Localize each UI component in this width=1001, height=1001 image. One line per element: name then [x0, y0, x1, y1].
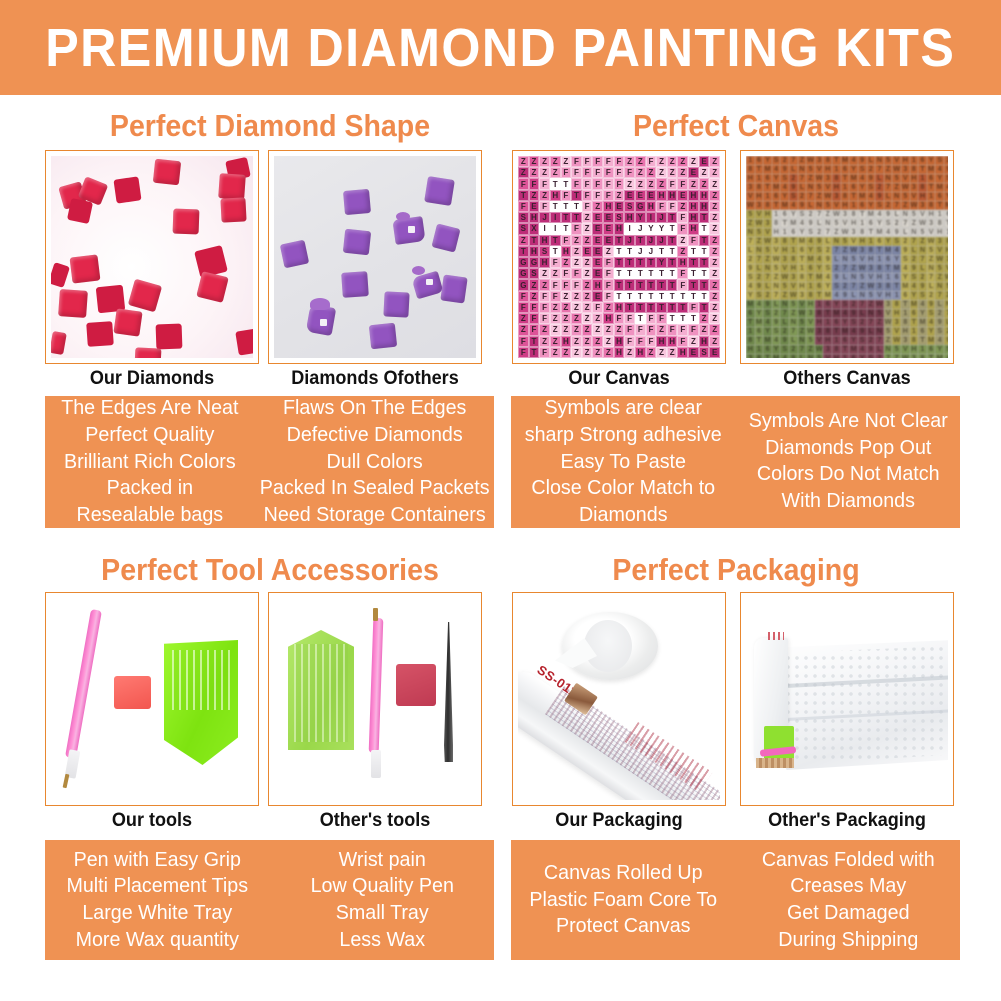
canvas-symbol-cell: H — [901, 327, 910, 336]
canvas-symbol-cell: 9 — [763, 300, 772, 309]
canvas-symbol-cell: 3 — [841, 210, 850, 219]
canvas-symbol-cell: F — [539, 178, 550, 189]
canvas-symbol-cell: 6 — [884, 255, 893, 264]
canvas-symbol-cell: M — [935, 354, 944, 358]
canvas-symbol-cell: 1 — [823, 318, 832, 327]
canvas-symbol-cell: V — [755, 210, 764, 219]
photo-others-tools — [268, 592, 482, 806]
canvas-symbol-cell: T — [667, 246, 678, 257]
canvas-symbol-cell: 8 — [832, 174, 841, 183]
canvas-symbol-cell: 1 — [884, 273, 893, 282]
canvas-symbol-cell: 6 — [763, 345, 772, 354]
canvas-symbol-cell: V — [746, 192, 755, 201]
canvas-symbol-cell: Z — [518, 167, 529, 178]
canvas-symbol-cell: H — [832, 354, 841, 358]
canvas-symbol-cell: Y — [815, 264, 824, 273]
canvas-symbol-cell: 2 — [927, 291, 936, 300]
benefit-line: Large White Tray — [82, 900, 232, 927]
canvas-symbol-cell: 9 — [780, 336, 789, 345]
canvas-symbol-cell: 2 — [901, 237, 910, 246]
canvas-symbol-cell: N — [798, 165, 807, 174]
canvas-symbol-cell: 6 — [918, 156, 927, 165]
canvas-symbol-cell: 4 — [944, 183, 948, 192]
canvas-symbol-cell: M — [901, 282, 910, 291]
canvas-symbol-cell: V — [944, 264, 948, 273]
canvas-symbol-cell: T — [798, 255, 807, 264]
canvas-symbol-cell: Y — [646, 223, 657, 234]
canvas-symbol-cell: W — [832, 210, 841, 219]
canvas-symbol-cell: I — [550, 223, 561, 234]
canvas-symbol-cell: H — [892, 309, 901, 318]
canvas-symbol-cell: F — [614, 156, 625, 167]
canvas-symbol-cell: 6 — [815, 282, 824, 291]
canvas-symbol-cell: J — [656, 212, 667, 223]
canvas-symbol-cell: F — [529, 324, 540, 335]
canvas-symbol-cell: Z — [603, 302, 614, 313]
canvas-symbol-cell: 3 — [815, 156, 824, 165]
canvas-symbol-cell: Z — [709, 324, 720, 335]
canvas-symbol-cell: Z — [539, 336, 550, 347]
canvas-symbol-cell: H — [699, 190, 710, 201]
canvas-symbol-cell: Z — [709, 257, 720, 268]
canvas-symbol-cell: 7 — [944, 309, 948, 318]
canvas-symbol-cell: E — [646, 190, 657, 201]
canvas-symbol-cell: F — [571, 279, 582, 290]
canvas-symbol-cell: H — [561, 246, 572, 257]
canvas-symbol-cell: 3 — [763, 219, 772, 228]
canvas-symbol-cell: 6 — [763, 174, 772, 183]
canvas-symbol-cell: F — [550, 257, 561, 268]
canvas-symbol-cell: T — [935, 201, 944, 210]
canvas-symbol-cell: T — [858, 210, 867, 219]
canvas-symbol-cell: 1 — [772, 210, 781, 219]
canvas-symbol-cell: 4 — [755, 300, 764, 309]
section-title-canvas: Perfect Canvas — [529, 108, 943, 144]
canvas-symbol-cell: M — [927, 336, 936, 345]
canvas-symbol-cell: 7 — [789, 156, 798, 165]
canvas-symbol-cell: F — [667, 201, 678, 212]
canvas-symbol-cell: Z — [709, 246, 720, 257]
canvas-symbol-cell: 6 — [780, 210, 789, 219]
canvas-symbol-cell: V — [815, 165, 824, 174]
canvas-symbol-cell: T — [635, 313, 646, 324]
benefit-line: Resealable bags — [77, 502, 224, 529]
benefit-line: Canvas Rolled Up — [544, 860, 703, 887]
canvas-symbol-cell: S — [539, 246, 550, 257]
canvas-symbol-cell: T — [688, 246, 699, 257]
canvas-symbol-cell: 2 — [789, 345, 798, 354]
canvas-symbol-cell: 6 — [892, 273, 901, 282]
canvas-symbol-cell: E — [614, 201, 625, 212]
canvas-symbol-cell: S — [518, 223, 529, 234]
canvas-symbol-cell: N — [849, 273, 858, 282]
canvas-symbol-cell: 7 — [772, 291, 781, 300]
canvas-symbol-cell: F — [677, 336, 688, 347]
canvas-symbol-cell: S — [892, 237, 901, 246]
canvas-symbol-cell: N — [927, 264, 936, 273]
canvas-symbol-cell: L — [832, 255, 841, 264]
canvas-symbol-cell: Y — [635, 212, 646, 223]
points-others-packaging: Canvas Folded withCreases MayGet Damaged… — [740, 846, 956, 954]
canvas-symbol-cell: F — [603, 257, 614, 268]
canvas-symbol-cell: Z — [550, 324, 561, 335]
canvas-symbol-cell: T — [561, 178, 572, 189]
canvas-symbol-cell: T — [918, 336, 927, 345]
caption-our-tools: Our tools — [50, 810, 253, 832]
benefit-line: Defective Diamonds — [286, 422, 462, 449]
canvas-symbol-cell: Z — [677, 246, 688, 257]
canvas-symbol-cell: T — [944, 219, 948, 228]
canvas-symbol-cell: E — [592, 268, 603, 279]
canvas-symbol-cell: 3 — [780, 255, 789, 264]
canvas-symbol-cell: 1 — [841, 183, 850, 192]
canvas-symbol-cell: L — [875, 345, 884, 354]
canvas-symbol-cell: 4 — [798, 219, 807, 228]
canvas-symbol-cell: 4 — [815, 255, 824, 264]
canvas-symbol-cell: T — [927, 183, 936, 192]
canvas-symbol-cell: H — [699, 201, 710, 212]
canvas-symbol-cell: Z — [582, 279, 593, 290]
canvas-symbol-cell: L — [823, 237, 832, 246]
canvas-symbol-cell: 4 — [841, 309, 850, 318]
canvas-symbol-cell: 1 — [746, 156, 755, 165]
canvas-symbol-cell: 5 — [806, 336, 815, 345]
canvas-symbol-cell: 3 — [815, 327, 824, 336]
canvas-symbol-cell: 8 — [823, 156, 832, 165]
canvas-symbol-cell: Z — [582, 313, 593, 324]
canvas-symbol-cell: 5 — [841, 237, 850, 246]
canvas-symbol-cell: H — [841, 201, 850, 210]
canvas-symbol-cell: M — [849, 345, 858, 354]
canvas-symbol-cell: Z — [677, 201, 688, 212]
canvas-symbol-cell: 5 — [910, 210, 919, 219]
points-our-tools: Pen with Easy GripMulti Placement TipsLa… — [49, 846, 265, 954]
canvas-symbol-cell: T — [550, 246, 561, 257]
canvas-symbol-cell: Z — [571, 302, 582, 313]
canvas-symbol-cell: N — [780, 300, 789, 309]
canvas-symbol-cell: F — [677, 223, 688, 234]
canvas-symbol-cell: 3 — [858, 246, 867, 255]
benefit-line: Brilliant Rich Colors — [64, 449, 236, 476]
canvas-symbol-cell: S — [614, 212, 625, 223]
canvas-symbol-cell: 4 — [918, 300, 927, 309]
canvas-symbol-cell: F — [529, 178, 540, 189]
canvas-symbol-cell: H — [603, 201, 614, 212]
canvas-symbol-cell: H — [746, 174, 755, 183]
canvas-symbol-cell: 8 — [918, 354, 927, 358]
canvas-symbol-cell: Z — [699, 313, 710, 324]
canvas-symbol-cell: T — [667, 313, 678, 324]
canvas-symbol-cell: 3 — [927, 219, 936, 228]
canvas-symbol-cell: Z — [709, 156, 720, 167]
canvas-symbol-cell: W — [746, 201, 755, 210]
canvas-symbol-cell: 3 — [806, 309, 815, 318]
canvas-symbol-cell: T — [614, 246, 625, 257]
canvas-symbol-cell: L — [867, 327, 876, 336]
canvas-symbol-cell: T — [910, 318, 919, 327]
canvas-symbol-cell: 4 — [892, 246, 901, 255]
canvas-symbol-cell: T — [561, 201, 572, 212]
canvas-symbol-cell: 8 — [763, 201, 772, 210]
canvas-symbol-cell: W — [867, 282, 876, 291]
canvas-symbol-cell: F — [688, 324, 699, 335]
canvas-symbol-cell: 4 — [884, 228, 893, 237]
canvas-symbol-cell: 8 — [910, 165, 919, 174]
canvas-symbol-cell: 1 — [832, 336, 841, 345]
canvas-symbol-cell: Z — [841, 246, 850, 255]
canvas-symbol-cell: S — [849, 318, 858, 327]
canvas-symbol-cell: Z — [571, 324, 582, 335]
canvas-symbol-cell: Y — [910, 291, 919, 300]
canvas-symbol-cell: Z — [667, 156, 678, 167]
canvas-symbol-cell: 8 — [823, 327, 832, 336]
canvas-symbol-cell: W — [927, 237, 936, 246]
canvas-symbol-cell: Z — [518, 235, 529, 246]
canvas-symbol-cell: 7 — [798, 174, 807, 183]
canvas-symbol-cell: 1 — [849, 201, 858, 210]
canvas-symbol-cell: 8 — [806, 291, 815, 300]
benefit-line: Symbols are clear — [545, 395, 703, 422]
canvas-symbol-cell: N — [858, 291, 867, 300]
canvas-symbol-cell: T — [635, 235, 646, 246]
canvas-symbol-cell: F — [614, 178, 625, 189]
pen-tip — [371, 750, 381, 778]
canvas-symbol-cell: L — [789, 336, 798, 345]
canvas-symbol-cell: 5 — [823, 201, 832, 210]
canvas-symbol-cell: V — [772, 246, 781, 255]
canvas-symbol-cell: 5 — [832, 219, 841, 228]
canvas-symbol-cell: 3 — [944, 255, 948, 264]
canvas-symbol-cell: Z — [571, 291, 582, 302]
canvas-symbol-cell: T — [656, 268, 667, 279]
caption-others-tools: Other's tools — [273, 810, 476, 832]
canvas-symbol-cell: 9 — [910, 264, 919, 273]
canvas-symbol-cell: 1 — [755, 174, 764, 183]
canvas-symbol-cell: M — [772, 183, 781, 192]
canvas-symbol-cell: Z — [884, 165, 893, 174]
canvas-symbol-cell: M — [763, 336, 772, 345]
canvas-symbol-cell: Z — [763, 255, 772, 264]
canvas-symbol-cell: L — [910, 246, 919, 255]
canvas-symbol-cell: H — [832, 183, 841, 192]
canvas-symbol-cell: 7 — [875, 165, 884, 174]
canvas-symbol-cell: Z — [529, 190, 540, 201]
canvas-symbol-cell: 8 — [918, 183, 927, 192]
canvas-symbol-cell: T — [699, 302, 710, 313]
canvas-symbol-cell: Z — [539, 156, 550, 167]
canvas-symbol-cell: M — [910, 300, 919, 309]
canvas-symbol-cell: F — [539, 302, 550, 313]
canvas-symbol-cell: 1 — [927, 192, 936, 201]
canvas-symbol-cell: Z — [571, 313, 582, 324]
canvas-symbol-cell: Z — [561, 156, 572, 167]
canvas-symbol-cell: T — [699, 268, 710, 279]
canvas-symbol-cell: Z — [582, 324, 593, 335]
benefit-line: During Shipping — [778, 927, 918, 954]
canvas-symbol-cell: V — [815, 336, 824, 345]
canvas-symbol-cell: 2 — [858, 318, 867, 327]
canvas-symbol-cell: H — [635, 347, 646, 358]
canvas-symbol-cell: T — [892, 282, 901, 291]
canvas-symbol-cell: N — [910, 228, 919, 237]
canvas-symbol-cell: F — [603, 291, 614, 302]
canvas-symbol-cell: T — [550, 178, 561, 189]
canvas-symbol-cell: 3 — [910, 354, 919, 358]
canvas-symbol-cell: 7 — [789, 327, 798, 336]
canvas-symbol-cell: V — [884, 309, 893, 318]
canvas-symbol-cell: S — [910, 273, 919, 282]
canvas-symbol-cell: H — [614, 347, 625, 358]
canvas-symbol-cell: T — [667, 291, 678, 302]
canvas-symbol-cell: 9 — [823, 255, 832, 264]
canvas-symbol-cell: H — [849, 219, 858, 228]
canvas-symbol-cell: F — [635, 324, 646, 335]
canvas-symbol-cell: H — [614, 302, 625, 313]
canvas-symbol-cell: 9 — [867, 345, 876, 354]
canvas-symbol-cell: 1 — [780, 228, 789, 237]
canvas-symbol-cell: W — [944, 273, 948, 282]
canvas-symbol-cell: F — [571, 268, 582, 279]
wax-square — [396, 664, 436, 706]
canvas-symbol-cell: 1 — [918, 345, 927, 354]
canvas-symbol-cell: S — [841, 300, 850, 309]
canvas-symbol-cell: T — [677, 302, 688, 313]
canvas-symbol-cell: I — [550, 212, 561, 223]
canvas-symbol-cell: H — [656, 336, 667, 347]
canvas-symbol-cell: T — [789, 237, 798, 246]
canvas-symbol-cell: S — [927, 309, 936, 318]
canvas-symbol-cell: G — [635, 201, 646, 212]
canvas-symbol-cell: Z — [550, 156, 561, 167]
canvas-symbol-cell: T — [688, 257, 699, 268]
canvas-symbol-cell: W — [789, 291, 798, 300]
points-our-diamonds: The Edges Are NeatPerfect QualityBrillia… — [49, 402, 250, 522]
canvas-symbol-cell: 7 — [935, 291, 944, 300]
canvas-symbol-cell: M — [892, 264, 901, 273]
canvas-symbol-cell: J — [646, 235, 657, 246]
canvas-symbol-cell: J — [539, 212, 550, 223]
canvas-symbol-cell: F — [677, 212, 688, 223]
canvas-symbol-cell: M — [746, 300, 755, 309]
canvas-symbol-cell: H — [755, 192, 764, 201]
canvas-symbol-cell: 3 — [884, 300, 893, 309]
canvas-symbol-cell: S — [763, 309, 772, 318]
canvas-symbol-cell: Y — [763, 156, 772, 165]
canvas-symbol-cell: Y — [823, 282, 832, 291]
canvas-symbol-cell: Z — [709, 336, 720, 347]
canvas-symbol-cell: 6 — [849, 354, 858, 358]
benefit-line: Canvas Folded with — [761, 847, 934, 874]
canvas-symbol-cell: 5 — [849, 255, 858, 264]
section-title-tools: Perfect Tool Accessories — [63, 552, 477, 588]
canvas-symbol-cell: T — [927, 354, 936, 358]
canvas-symbol-cell: F — [688, 235, 699, 246]
photo-others-canvas: 16YS27ZW38TM49LN5VH16YS28TM49LN5VH16YS27… — [740, 150, 954, 364]
canvas-symbol-cell: T — [614, 235, 625, 246]
canvas-symbol-cell: 2 — [755, 273, 764, 282]
canvas-symbol-cell: Z — [746, 219, 755, 228]
canvas-symbol-cell: 2 — [910, 255, 919, 264]
canvas-symbol-cell: F — [592, 190, 603, 201]
canvas-symbol-cell: H — [875, 273, 884, 282]
canvas-symbol-cell: F — [603, 167, 614, 178]
canvas-symbol-cell: Z — [918, 237, 927, 246]
canvas-symbol-cell: F — [582, 156, 593, 167]
canvas-symbol-cell: Y — [763, 327, 772, 336]
canvas-symbol-cell: Y — [746, 291, 755, 300]
canvas-symbol-cell: F — [582, 201, 593, 212]
caption-others-packaging: Other's Packaging — [745, 810, 948, 832]
benefit-line: Small Tray — [335, 900, 428, 927]
canvas-symbol-cell: H — [823, 336, 832, 345]
canvas-symbol-cell: F — [571, 178, 582, 189]
canvas-symbol-cell: Z — [571, 347, 582, 358]
canvas-symbol-cell: 5 — [763, 246, 772, 255]
caption-our-canvas: Our Canvas — [517, 368, 720, 390]
canvas-symbol-cell: H — [539, 235, 550, 246]
canvas-symbol-cell: F — [571, 223, 582, 234]
canvas-symbol-cell: Z — [656, 167, 667, 178]
canvas-symbol-cell: V — [918, 210, 927, 219]
canvas-symbol-cell: W — [806, 327, 815, 336]
canvas-symbol-cell: N — [763, 264, 772, 273]
canvas-symbol-cell: Z — [667, 347, 678, 358]
canvas-symbol-cell: Y — [832, 300, 841, 309]
canvas-symbol-cell: F — [635, 336, 646, 347]
canvas-symbol-cell: V — [780, 264, 789, 273]
canvas-symbol-cell: 3 — [901, 165, 910, 174]
canvas-symbol-cell: J — [646, 246, 657, 257]
canvas-symbol-cell: S — [875, 201, 884, 210]
canvas-symbol-cell: 6 — [901, 291, 910, 300]
canvas-symbol-cell: Z — [582, 268, 593, 279]
canvas-symbol-cell: F — [646, 336, 657, 347]
caption-our-diamonds: Our Diamonds — [50, 368, 253, 390]
canvas-symbol-cell: 9 — [780, 165, 789, 174]
canvas-symbol-cell: 6 — [772, 192, 781, 201]
canvas-symbol-cell: 3 — [772, 237, 781, 246]
canvas-symbol-cell: 7 — [746, 237, 755, 246]
blurry-symbol-grid: 16YS27ZW38TM49LN5VH16YS28TM49LN5VH16YS27… — [746, 156, 948, 358]
canvas-symbol-cell: 6 — [789, 228, 798, 237]
canvas-symbol-cell: 9 — [927, 300, 936, 309]
canvas-symbol-cell: 6 — [755, 156, 764, 165]
canvas-symbol-cell: 3 — [875, 282, 884, 291]
benefit-line: Close Color Match to — [531, 475, 715, 502]
canvas-symbol-cell: T — [529, 336, 540, 347]
canvas-symbol-cell: L — [789, 165, 798, 174]
canvas-symbol-cell: Y — [772, 174, 781, 183]
canvas-symbol-cell: M — [935, 183, 944, 192]
benefit-line: Creases May — [790, 873, 906, 900]
canvas-symbol-cell: F — [518, 336, 529, 347]
canvas-symbol-cell: N — [918, 246, 927, 255]
canvas-symbol-cell: 2 — [780, 327, 789, 336]
canvas-symbol-cell: F — [539, 313, 550, 324]
canvas-symbol-cell: V — [832, 201, 841, 210]
canvas-symbol-cell: E — [592, 257, 603, 268]
canvas-symbol-cell: E — [603, 212, 614, 223]
canvas-symbol-cell: Z — [677, 156, 688, 167]
canvas-symbol-cell: T — [518, 190, 529, 201]
canvas-symbol-cell: V — [823, 183, 832, 192]
canvas-symbol-cell: M — [884, 246, 893, 255]
canvas-symbol-cell: L — [901, 228, 910, 237]
canvas-symbol-cell: Z — [561, 302, 572, 313]
canvas-symbol-cell: N — [884, 174, 893, 183]
canvas-symbol-cell: H — [614, 223, 625, 234]
canvas-symbol-cell: Z — [624, 156, 635, 167]
